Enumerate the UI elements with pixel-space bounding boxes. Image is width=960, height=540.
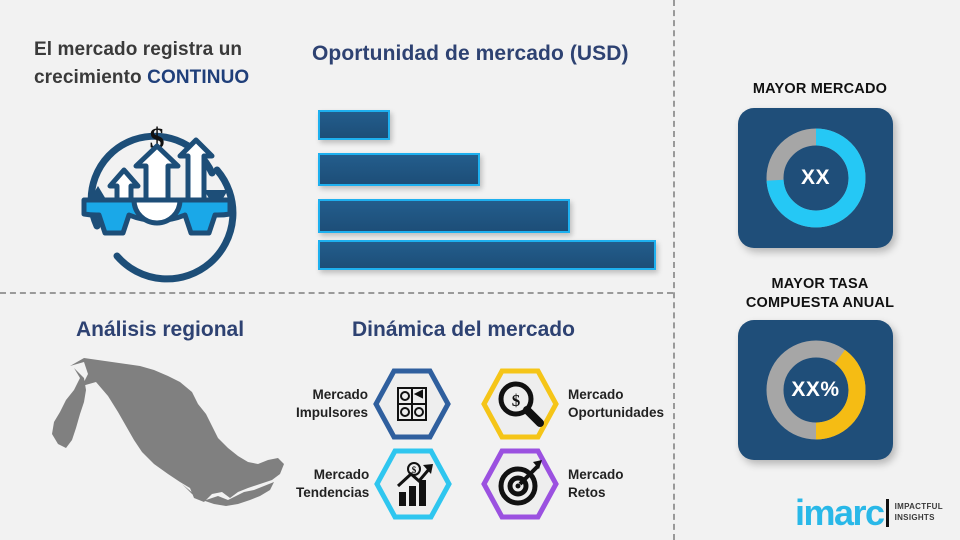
kpi-heading-highest-cagr: MAYOR TASA COMPUESTA ANUAL: [700, 275, 940, 313]
dynamics-item-opportunities[interactable]: $ Mercado Oportunidades: [480, 368, 664, 440]
chart-title: Oportunidad de mercado (USD): [312, 42, 629, 66]
kpi-value-largest-market: XX: [738, 108, 893, 248]
growth-gear-arrows-icon: $: [62, 108, 252, 288]
puzzle-pieces-icon: [372, 368, 452, 440]
table-row: [318, 153, 480, 186]
kpi-heading-largest-market: MAYOR MERCADO: [700, 80, 940, 99]
imarc-wordmark: imarc: [795, 495, 884, 531]
vertical-divider: [673, 0, 675, 540]
table-row: [318, 110, 390, 140]
market-dynamics-title: Dinámica del mercado: [352, 318, 575, 342]
regional-analysis-title: Análisis regional: [76, 318, 244, 342]
kpi-value-highest-cagr: XX%: [738, 320, 893, 460]
left-headline-highlight: CONTINUO: [147, 67, 249, 88]
infographic-canvas: El mercado registra un crecimiento CONTI…: [0, 0, 960, 540]
market-opportunity-bar-chart: [318, 110, 663, 270]
dynamics-label-trends: Mercado Tendencias: [296, 466, 369, 502]
magnifier-dollar-icon: $: [480, 368, 560, 440]
kpi-card-highest-cagr: XX%: [738, 320, 893, 460]
svg-text:$: $: [412, 465, 417, 475]
left-headline: El mercado registra un crecimiento CONTI…: [34, 36, 304, 91]
dynamics-label-opportunities: Mercado Oportunidades: [568, 386, 664, 422]
imarc-logo: imarc IMPACTFUL INSIGHTS: [795, 495, 943, 531]
imarc-tagline: IMPACTFUL INSIGHTS: [895, 502, 943, 524]
table-row: [318, 199, 570, 233]
dynamics-item-trends[interactable]: Mercado Tendencias $: [296, 448, 453, 520]
mexico-map-icon: [22, 352, 302, 517]
target-dart-icon: [480, 448, 560, 520]
dynamics-label-drivers: Mercado Impulsores: [296, 386, 368, 422]
svg-text:$: $: [512, 391, 521, 410]
kpi-card-largest-market: XX: [738, 108, 893, 248]
dynamics-item-challenges[interactable]: Mercado Retos: [480, 448, 624, 520]
table-row: [318, 240, 656, 270]
dynamics-item-drivers[interactable]: Mercado Impulsores: [296, 368, 452, 440]
bar-chart-arrow-icon: $: [373, 448, 453, 520]
horizontal-divider: [0, 292, 673, 294]
logo-separator: [886, 499, 889, 527]
dynamics-label-challenges: Mercado Retos: [568, 466, 624, 502]
